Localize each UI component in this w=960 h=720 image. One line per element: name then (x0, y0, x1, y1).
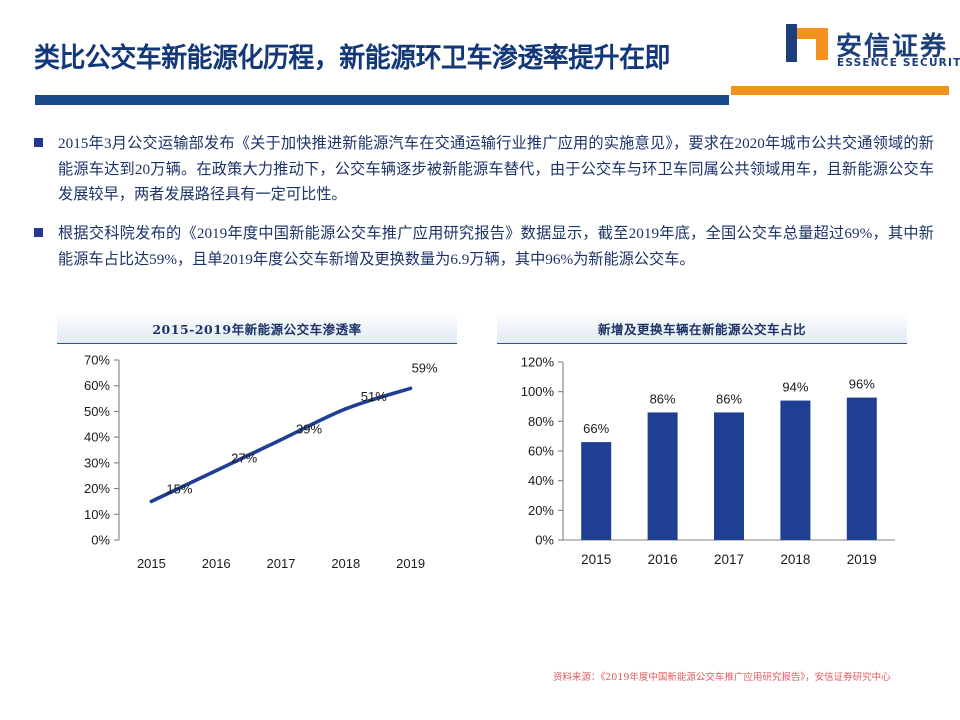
svg-text:20%: 20% (84, 481, 110, 496)
svg-text:60%: 60% (528, 444, 554, 459)
svg-text:10%: 10% (84, 507, 110, 522)
chart-plot-area: 70%60%50%40%30%20%10%0%20152016201720182… (57, 344, 457, 602)
source-note: 资料来源：《2019年度中国新能源公交车推广应用研究报告》，安信证券研究中心 (553, 669, 891, 683)
chart-panel-new-replacement-share: 新增及更换车辆在新能源公交车占比 120%100%80%60%40%20%0%6… (497, 313, 907, 603)
svg-text:120%: 120% (521, 355, 555, 370)
svg-text:2017: 2017 (714, 552, 744, 567)
svg-text:2018: 2018 (331, 556, 360, 571)
svg-text:51%: 51% (361, 389, 387, 404)
svg-text:2016: 2016 (202, 556, 231, 571)
svg-text:94%: 94% (782, 380, 808, 395)
svg-text:59%: 59% (412, 360, 438, 375)
svg-text:20%: 20% (528, 503, 554, 518)
bullet-paragraph: 2015年3月公交运输部发布《关于加快推进新能源汽车在交通运输行业推广应用的实施… (34, 131, 934, 208)
svg-text:100%: 100% (521, 384, 555, 399)
chart-title: 新增及更换车辆在新能源公交车占比 (598, 319, 806, 338)
bullet-marker-icon (34, 228, 43, 237)
svg-text:2019: 2019 (396, 556, 425, 571)
chart-plot-area: 120%100%80%60%40%20%0%66%201586%201686%2… (497, 344, 907, 602)
svg-text:66%: 66% (583, 421, 609, 436)
svg-text:2016: 2016 (648, 552, 678, 567)
svg-text:86%: 86% (650, 391, 676, 406)
bullet-marker-icon (34, 138, 43, 147)
svg-text:39%: 39% (296, 422, 322, 437)
svg-text:2015: 2015 (581, 552, 611, 567)
svg-text:2019: 2019 (847, 552, 877, 567)
svg-text:15%: 15% (166, 481, 192, 496)
svg-text:0%: 0% (535, 533, 554, 548)
svg-text:30%: 30% (84, 455, 110, 470)
logo-name-en: ESSENCE SECURITIES (837, 57, 960, 69)
bar-chart-svg: 120%100%80%60%40%20%0%66%201586%201686%2… (497, 344, 907, 602)
header-rule-blue (35, 95, 729, 105)
line-chart-svg: 70%60%50%40%30%20%10%0%20152016201720182… (57, 344, 457, 602)
svg-text:86%: 86% (716, 391, 742, 406)
svg-text:80%: 80% (528, 414, 554, 429)
bullet-text: 根据交科院发布的《2019年度中国新能源公交车推广应用研究报告》数据显示，截至2… (58, 221, 934, 272)
chart-title-bar: 新增及更换车辆在新能源公交车占比 (497, 313, 907, 344)
svg-text:2018: 2018 (780, 552, 810, 567)
essence-securities-logo-mark-icon (776, 10, 838, 62)
page-header: 类比公交车新能源化历程，新能源环卫车渗透率提升在即 安信证券 ESSENCE S… (0, 0, 960, 110)
chart-title: 2015-2019年新能源公交车渗透率 (152, 319, 361, 338)
chart-title-bar: 2015-2019年新能源公交车渗透率 (57, 313, 457, 344)
chart-panel-penetration-rate: 2015-2019年新能源公交车渗透率 70%60%50%40%30%20%10… (57, 313, 457, 603)
svg-text:60%: 60% (84, 378, 110, 393)
header-rule-orange (731, 86, 949, 95)
svg-text:50%: 50% (84, 404, 110, 419)
svg-text:40%: 40% (528, 473, 554, 488)
svg-text:2017: 2017 (267, 556, 296, 571)
svg-text:70%: 70% (84, 353, 110, 368)
svg-text:2015: 2015 (137, 556, 166, 571)
page-title: 类比公交车新能源化历程，新能源环卫车渗透率提升在即 (34, 36, 670, 75)
bullet-text: 2015年3月公交运输部发布《关于加快推进新能源汽车在交通运输行业推广应用的实施… (58, 131, 934, 208)
svg-text:27%: 27% (231, 451, 257, 466)
bullet-paragraph: 根据交科院发布的《2019年度中国新能源公交车推广应用研究报告》数据显示，截至2… (34, 221, 934, 272)
company-logo: 安信证券 ESSENCE SECURITIES (776, 10, 952, 82)
svg-text:40%: 40% (84, 430, 110, 445)
svg-text:96%: 96% (849, 377, 875, 392)
svg-text:0%: 0% (91, 533, 110, 548)
